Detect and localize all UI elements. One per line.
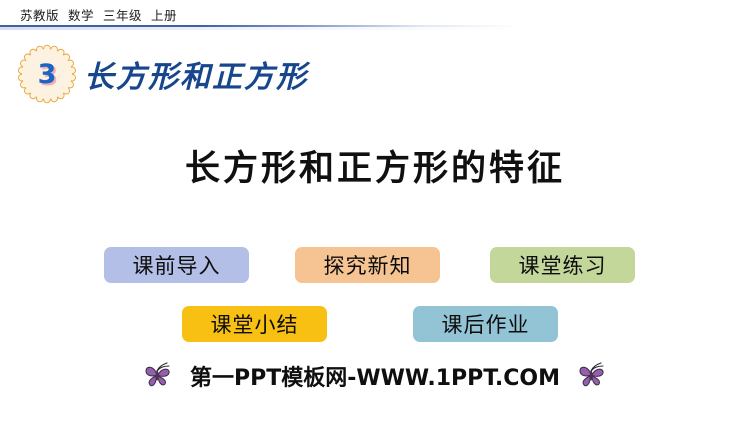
breadcrumb-volume: 上册	[151, 9, 177, 23]
chapter-title: 长方形和正方形	[84, 52, 308, 96]
page-title: 长方形和正方形的特征	[0, 140, 750, 191]
slide-canvas: 苏教版数学三年级上册 3 长方形和正方形 长方形和正方形的特征 课前导入 探究新…	[0, 0, 750, 422]
breadcrumb-grade: 三年级	[103, 9, 142, 23]
butterfly-icon-left	[142, 362, 174, 390]
header-divider-shadow	[0, 27, 520, 30]
chapter-number-text: 3	[16, 43, 78, 105]
slide-header: 苏教版数学三年级上册	[0, 0, 750, 27]
breadcrumb-subject: 数学	[68, 9, 94, 23]
textbook-breadcrumb: 苏教版数学三年级上册	[20, 5, 186, 24]
footer-watermark: 第一PPT模板网-WWW.1PPT.COM	[0, 356, 750, 396]
nav-button-explore-new[interactable]: 探究新知	[295, 247, 440, 283]
nav-button-class-summary[interactable]: 课堂小结	[182, 306, 327, 342]
nav-button-class-practice[interactable]: 课堂练习	[490, 247, 635, 283]
breadcrumb-publisher: 苏教版	[20, 9, 59, 23]
chapter-number-badge: 3	[16, 43, 78, 105]
nav-button-lead-in[interactable]: 课前导入	[104, 247, 249, 283]
butterfly-icon-right	[576, 362, 608, 390]
watermark-text: 第一PPT模板网-WWW.1PPT.COM	[190, 360, 560, 392]
nav-button-homework[interactable]: 课后作业	[413, 306, 558, 342]
